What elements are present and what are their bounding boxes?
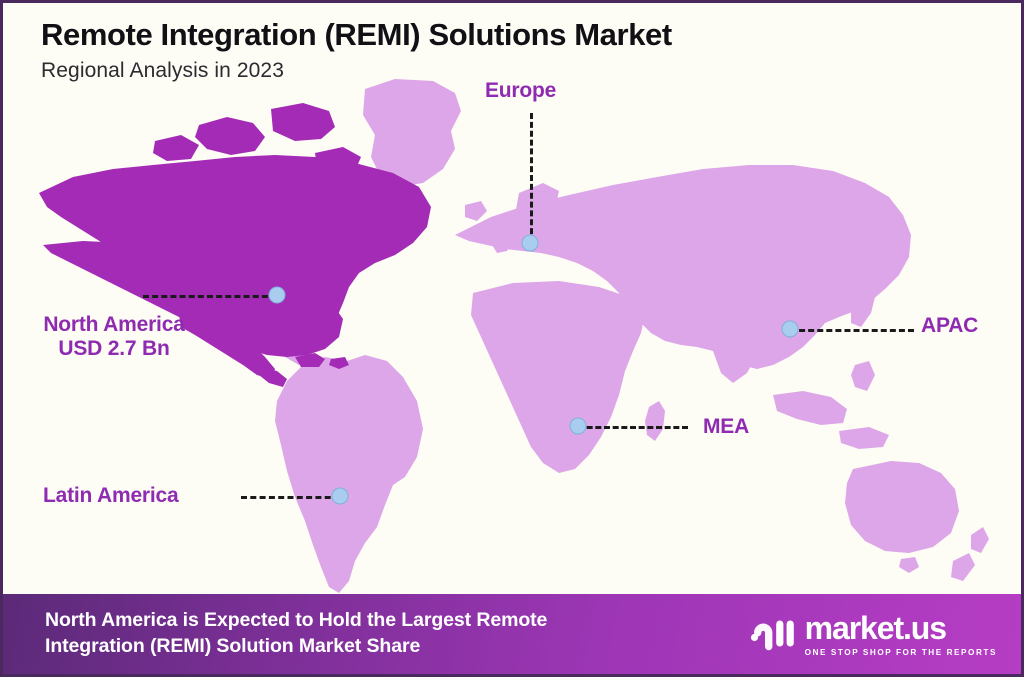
- connector-apac: [790, 329, 914, 332]
- marker-north-america[interactable]: [269, 287, 286, 304]
- footer-caption: North America is Expected to Hold the La…: [45, 608, 547, 659]
- connector-latin-america: [241, 496, 340, 499]
- connector-mea: [578, 426, 688, 429]
- infographic-card: Remote Integration (REMI) Solutions Mark…: [0, 0, 1024, 677]
- region-label-mea-name: MEA: [703, 415, 749, 438]
- footer-caption-line2: Integration (REMI) Solution Market Share: [45, 634, 547, 660]
- region-label-mea: MEA: [703, 415, 749, 439]
- region-label-apac-name: APAC: [921, 314, 978, 337]
- connector-europe: [530, 113, 533, 243]
- logo-wordmark: market.us: [805, 612, 946, 644]
- region-label-europe: Europe: [485, 79, 556, 103]
- marker-apac[interactable]: [782, 321, 799, 338]
- marker-europe[interactable]: [522, 235, 539, 252]
- logo-text: market.us ONE STOP SHOP FOR THE REPORTS: [805, 612, 997, 657]
- connector-north-america: [143, 295, 277, 298]
- region-label-apac: APAC: [921, 314, 978, 338]
- page-subtitle: Regional Analysis in 2023: [41, 59, 672, 83]
- logo-tagline: ONE STOP SHOP FOR THE REPORTS: [805, 648, 997, 657]
- region-value-north-america: USD 2.7 Bn: [19, 337, 209, 361]
- page-title: Remote Integration (REMI) Solutions Mark…: [41, 17, 672, 54]
- region-label-latin-america: Latin America: [43, 484, 179, 508]
- header: Remote Integration (REMI) Solutions Mark…: [41, 17, 672, 83]
- footer-caption-line1: North America is Expected to Hold the La…: [45, 608, 547, 634]
- marker-latin-america[interactable]: [332, 488, 349, 505]
- market-us-logo-mark-icon: [750, 614, 796, 654]
- brand-logo[interactable]: market.us ONE STOP SHOP FOR THE REPORTS: [750, 612, 1011, 657]
- region-label-latin-america-name: Latin America: [43, 484, 179, 507]
- footer-bar: North America is Expected to Hold the La…: [3, 594, 1024, 674]
- marker-mea[interactable]: [570, 418, 587, 435]
- region-label-north-america: North America USD 2.7 Bn: [19, 313, 209, 361]
- region-label-north-america-name: North America: [43, 313, 184, 336]
